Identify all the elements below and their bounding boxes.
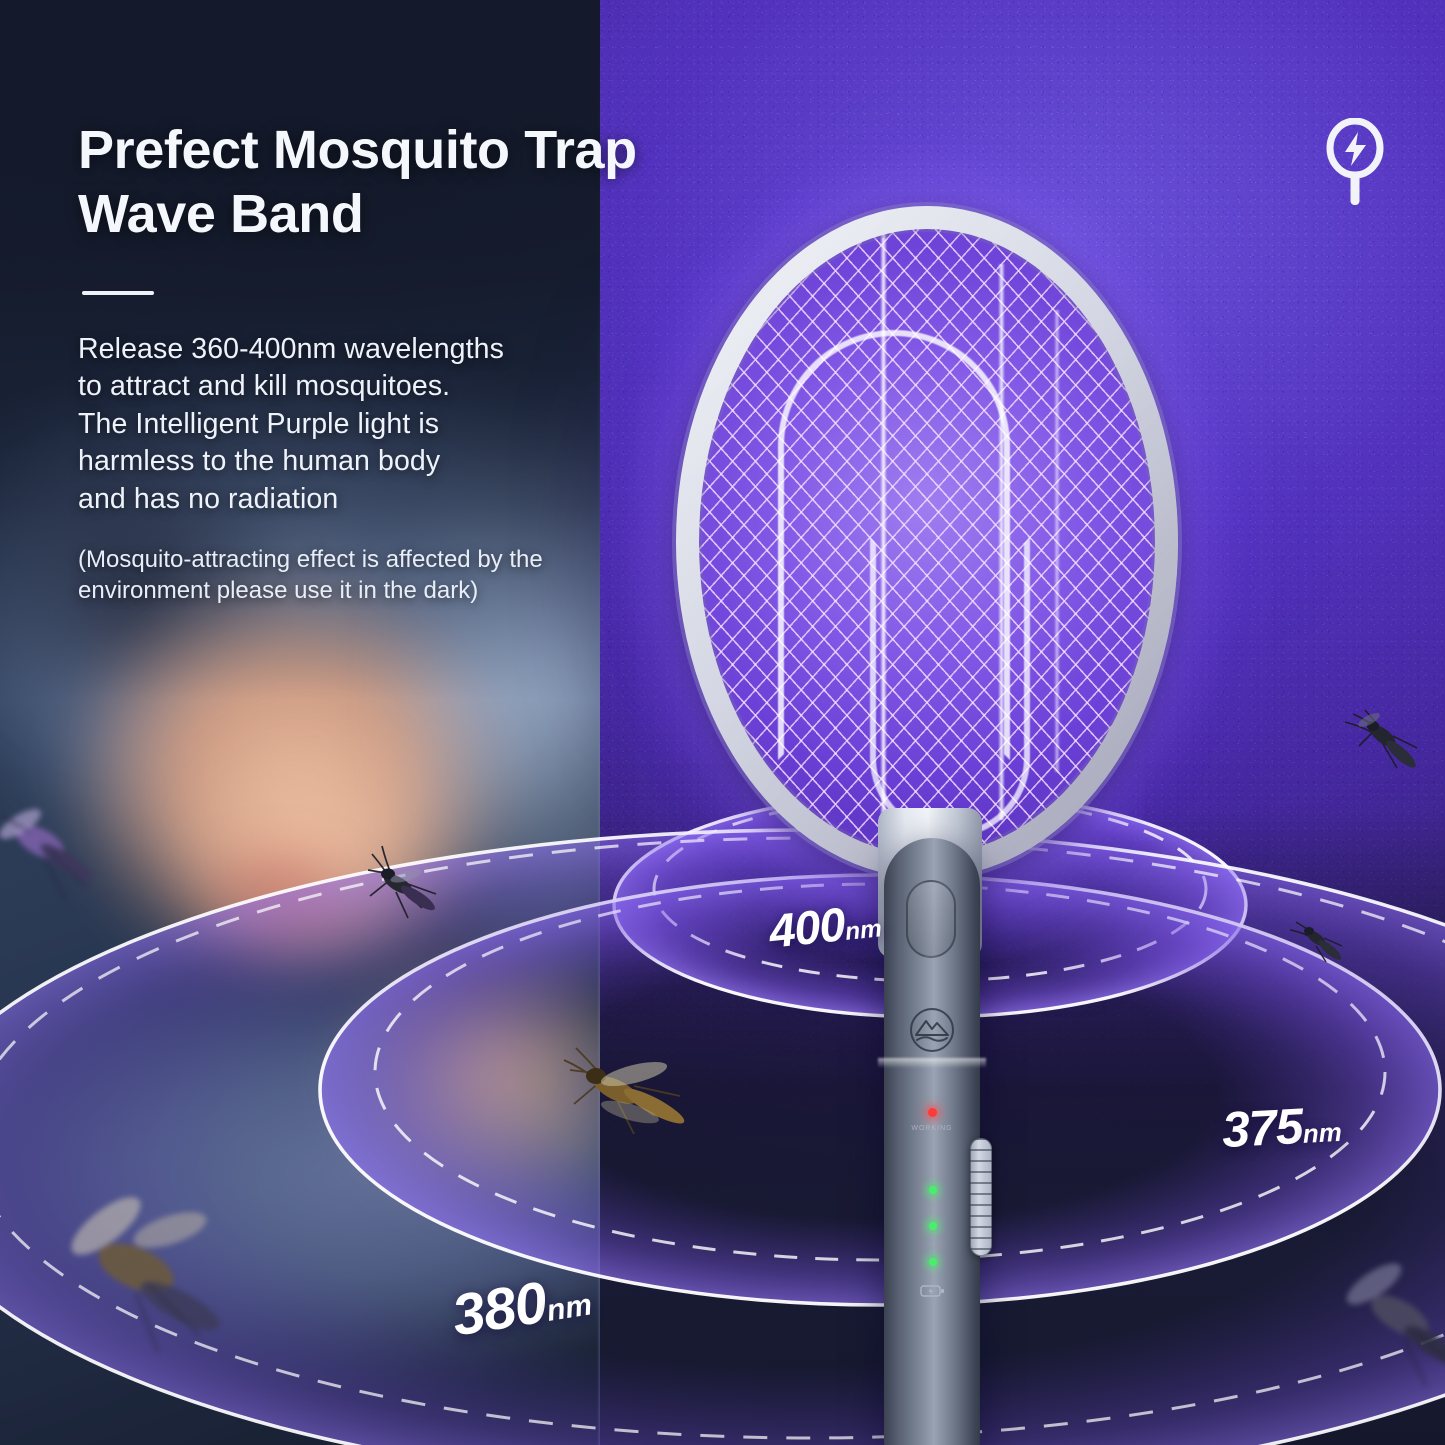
wavelength-unit-380: nm: [544, 1288, 594, 1328]
body-line-4: harmless to the human body: [78, 443, 638, 481]
product-feature-image: 400nm 375nm 380nm WORKING: [0, 0, 1445, 1445]
mosquito-7-blurred: [1330, 1250, 1445, 1400]
body-line-1: Release 360-400nm wavelengths: [78, 331, 638, 369]
disclaimer-text: (Mosquito-attracting effect is affected …: [78, 544, 638, 607]
electric-mosquito-swatter: WORKING: [682, 212, 1172, 1445]
battery-icon: [920, 1284, 945, 1298]
swatter-handle[interactable]: WORKING: [884, 838, 980, 1445]
mosquito-2: [1282, 912, 1356, 968]
swatter-rim: [676, 206, 1178, 878]
wavelength-unit-375: nm: [1302, 1117, 1343, 1149]
wavelength-value-375: 375: [1221, 1098, 1304, 1158]
headline-line-3: Wave Band: [78, 184, 363, 244]
body-line-2: to attract and kill mosquitoes.: [78, 368, 638, 406]
mosquito-5-blurred: [0, 790, 120, 910]
green-led-1: [929, 1186, 937, 1194]
mosquito-4: [530, 1030, 720, 1160]
description-text: Release 360-400nm wavelengths to attract…: [78, 331, 638, 519]
handle-ring-highlight: [878, 1058, 986, 1068]
green-led-2: [929, 1222, 937, 1230]
body-line-5: and has no radiation: [78, 481, 638, 519]
mosquito-1: [1335, 700, 1445, 790]
wavelength-label-400: 400nm: [766, 892, 883, 958]
red-led: [928, 1108, 937, 1117]
power-button[interactable]: [906, 880, 956, 958]
title-divider: [82, 291, 154, 295]
body-line-3: The Intelligent Purple light is: [78, 406, 638, 444]
mountain-logo-icon: [908, 1006, 956, 1054]
copy-block: Prefect Mosquito Trap Wave Band Release …: [78, 118, 638, 607]
headline-line-1: Prefect: [78, 120, 258, 180]
headline-line-2: Mosquito Trap: [273, 120, 637, 180]
wavelength-value-400: 400: [767, 897, 848, 958]
side-slider-switch[interactable]: [970, 1138, 992, 1256]
green-led-3: [929, 1258, 937, 1266]
page-title: Prefect Mosquito Trap Wave Band: [78, 118, 638, 247]
working-status-label: WORKING: [898, 1125, 966, 1132]
note-line-2: environment please use it in the dark): [78, 575, 638, 607]
note-line-1: (Mosquito-attracting effect is affected …: [78, 544, 638, 576]
wavelength-label-375: 375nm: [1221, 1095, 1343, 1159]
wavelength-value-380: 380: [448, 1270, 551, 1349]
wavelength-unit-400: nm: [844, 915, 883, 946]
mosquito-6-blurred: [40, 1180, 270, 1370]
racket-bolt-icon: [1322, 118, 1388, 210]
mosquito-3: [352, 840, 472, 940]
